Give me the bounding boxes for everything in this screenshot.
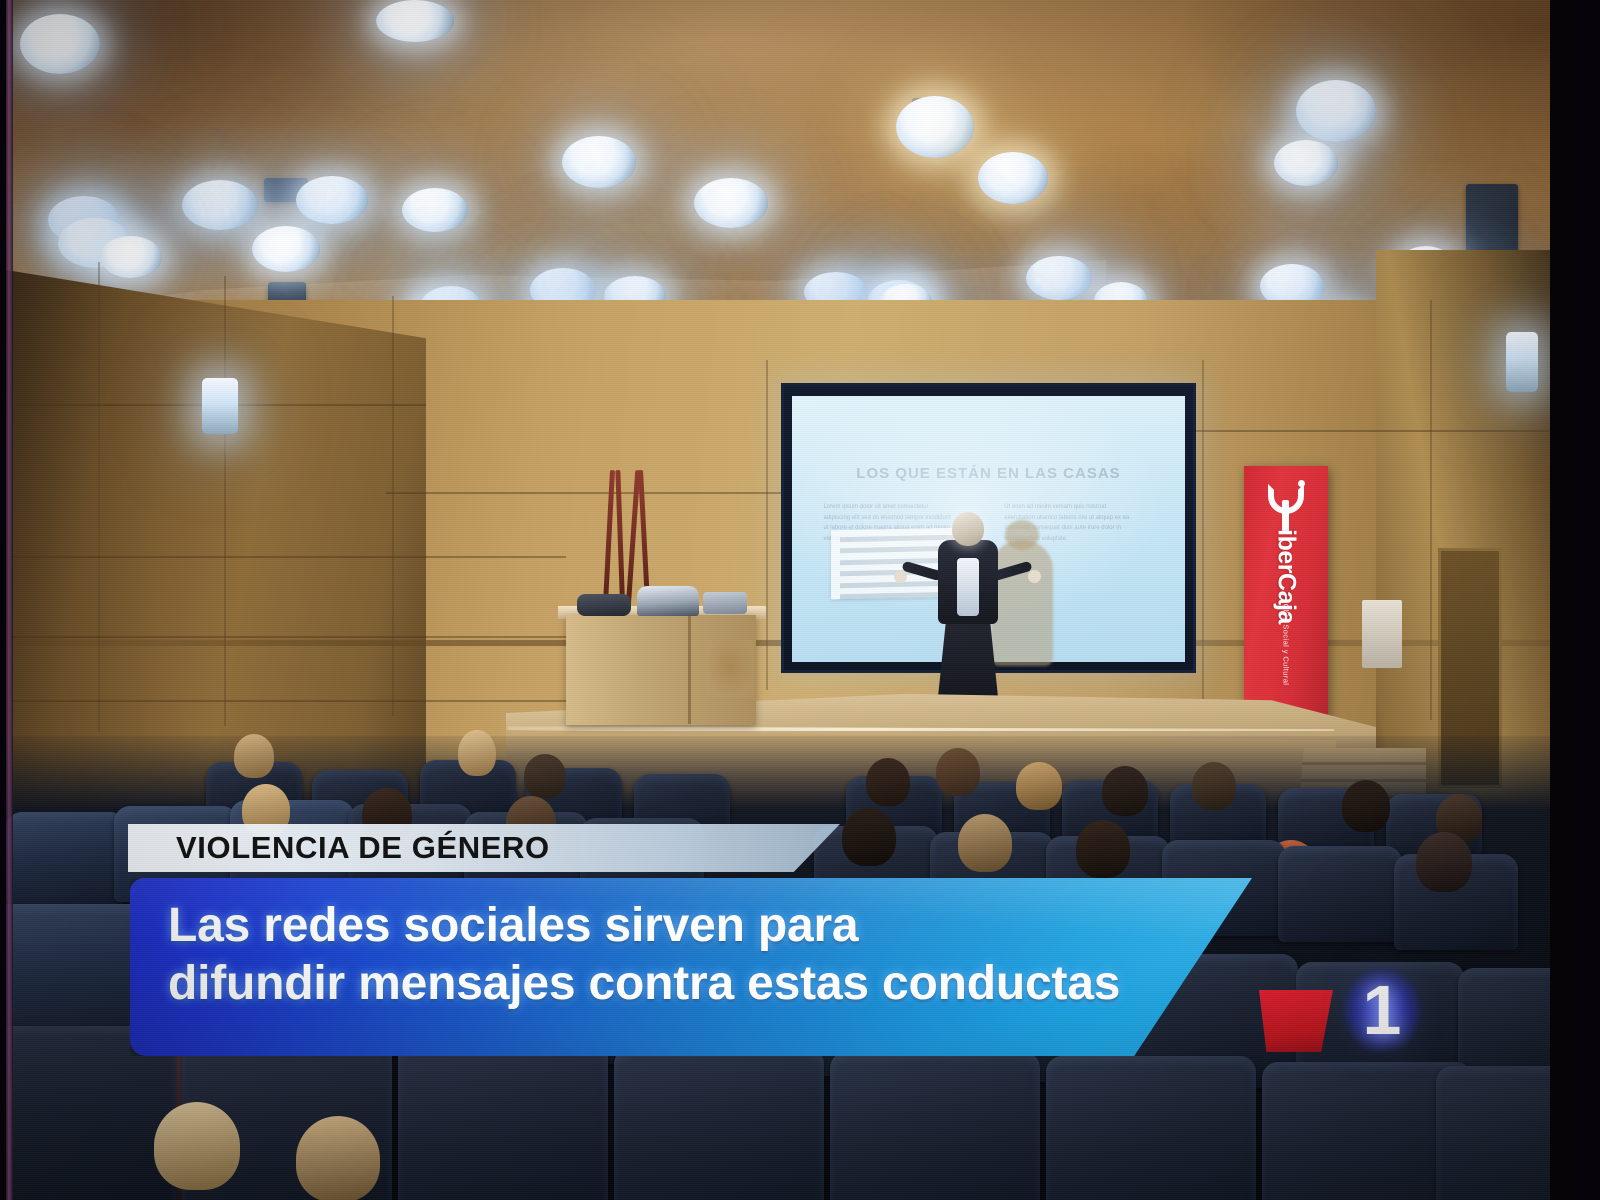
audience-head bbox=[1076, 820, 1130, 878]
ceiling-lamp bbox=[252, 226, 320, 272]
audience-seat bbox=[614, 1048, 824, 1200]
ceiling-lamp bbox=[402, 188, 468, 232]
ceiling-lamp bbox=[182, 180, 258, 230]
audience-head bbox=[936, 748, 980, 796]
speaker-figure bbox=[924, 512, 1012, 720]
audience-head bbox=[524, 754, 566, 798]
wall-seam bbox=[1430, 300, 1432, 720]
ceiling-lamp bbox=[1274, 140, 1338, 186]
audience-head bbox=[1416, 832, 1472, 892]
audience-head bbox=[866, 758, 910, 806]
audience-head bbox=[234, 734, 274, 778]
channel-logo-tve1: 1 bbox=[1340, 962, 1424, 1058]
podium-emblem bbox=[706, 640, 754, 698]
audience-head bbox=[154, 1102, 240, 1190]
kicker-text: VIOLENCIA DE GÉNERO bbox=[176, 830, 550, 866]
audience-seat bbox=[398, 1042, 608, 1200]
wall-seam bbox=[392, 296, 394, 716]
kicker-bar: VIOLENCIA DE GÉNERO bbox=[128, 824, 840, 872]
wall-seam bbox=[224, 276, 226, 726]
ceiling-lamp bbox=[896, 96, 974, 158]
podium-divider bbox=[688, 616, 691, 724]
headline-banner: Las redes sociales sirven para difundir … bbox=[130, 878, 1252, 1056]
ceiling-lamp bbox=[1026, 256, 1092, 300]
headline-line-1: Las redes sociales sirven para bbox=[130, 878, 1252, 954]
wall-vent bbox=[1362, 600, 1402, 668]
red-accent-tab bbox=[1259, 990, 1333, 1052]
video-picture: LOS QUE ESTÁN EN LAS CASAS Lorem ipsum d… bbox=[6, 0, 1576, 1200]
wall-seam bbox=[1202, 360, 1204, 710]
wall-seam bbox=[386, 492, 786, 494]
audience-seat bbox=[830, 1052, 1040, 1200]
ceiling-lamp bbox=[562, 136, 636, 188]
audience-head bbox=[1102, 766, 1148, 816]
broadcast-frame: LOS QUE ESTÁN EN LAS CASAS Lorem ipsum d… bbox=[0, 0, 1600, 1200]
audience-head bbox=[1342, 780, 1390, 832]
wall-sconce-icon bbox=[1506, 332, 1538, 392]
speaker-hand-right bbox=[1028, 570, 1041, 583]
ceiling-lamp bbox=[978, 152, 1048, 204]
audience-head bbox=[296, 1116, 380, 1200]
ceiling-lamp bbox=[20, 14, 100, 74]
av-equipment bbox=[571, 582, 761, 618]
audience-head bbox=[1016, 762, 1062, 810]
slide-title: LOS QUE ESTÁN EN LAS CASAS bbox=[827, 465, 1149, 482]
wall-seam bbox=[6, 700, 566, 702]
ceiling-lamp bbox=[100, 236, 162, 278]
ceiling-lamp bbox=[376, 0, 454, 42]
audience-seat bbox=[6, 812, 126, 904]
wall-sconce-icon bbox=[202, 378, 238, 434]
audience-seat bbox=[1046, 1056, 1256, 1200]
audience-head bbox=[458, 730, 496, 776]
audience-seat bbox=[1278, 846, 1402, 942]
video-edge-artifact bbox=[6, 0, 13, 1200]
ceiling-lamp bbox=[694, 178, 768, 228]
wall-seam bbox=[6, 556, 566, 558]
speaker-head bbox=[952, 512, 984, 546]
sponsor-tagline: Obra Social y Cultural bbox=[1282, 604, 1291, 686]
audience-head bbox=[1192, 762, 1236, 810]
ibercaja-trident-icon bbox=[1266, 482, 1306, 534]
ceiling-lamp bbox=[1296, 80, 1376, 142]
video-right-letterbox bbox=[1550, 0, 1576, 1200]
headline-line-2: difundir mensajes contra estas conductas bbox=[130, 954, 1252, 1012]
wall-seam bbox=[1186, 430, 1576, 432]
audience-head bbox=[958, 814, 1012, 872]
ceiling-lamp bbox=[296, 176, 368, 224]
channel-number: 1 bbox=[1363, 975, 1402, 1045]
speaker-blouse bbox=[957, 558, 979, 616]
speaker-hand-left bbox=[894, 570, 907, 583]
wall-seam bbox=[98, 262, 100, 732]
audience-head bbox=[842, 808, 896, 866]
sponsor-banner-ibercaja: iberCaja Obra Social y Cultural bbox=[1244, 466, 1328, 722]
